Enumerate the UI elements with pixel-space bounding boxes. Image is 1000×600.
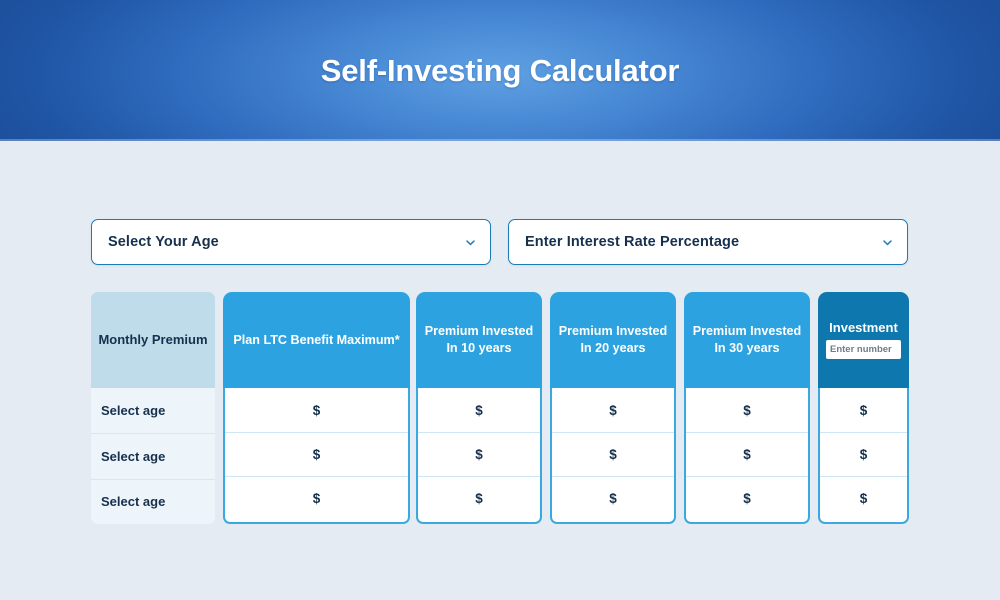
column-header-premium-invested-20-years: Premium Invested In 20 years [550,292,676,388]
column-header-premium-invested-10-years: Premium Invested In 10 years [416,292,542,388]
table-row[interactable]: Select age [91,479,215,524]
column-header-plan-ltc-benefit-maximum: Plan LTC Benefit Maximum* [223,292,410,388]
column-header-premium-invested-30-years: Premium Invested In 30 years [684,292,810,388]
table-cell: $ [418,476,540,520]
chevron-down-icon [882,237,893,248]
table-cell: $ [552,388,674,432]
table-column-premium-invested-10-years: Premium Invested In 10 years $ $ $ [416,292,542,524]
table-cell: $ [686,476,808,520]
investment-amount-input[interactable] [826,340,901,359]
table-cell: $ [820,476,907,520]
age-select[interactable]: Select Your Age [91,219,491,265]
investment-header-label: Investment [829,321,898,335]
table-row[interactable]: Select age [91,433,215,478]
table-column-plan-ltc-benefit-maximum: Plan LTC Benefit Maximum* $ $ $ [223,292,410,524]
table-cell: $ [820,388,907,432]
table-column-premium-invested-30-years: Premium Invested In 30 years $ $ $ [684,292,810,524]
table-cell: $ [418,432,540,476]
page-title: Self-Investing Calculator [0,0,1000,141]
table-row[interactable]: Select age [91,388,215,433]
table-column-investment: Investment $ $ $ [818,292,909,524]
banner-divider [0,139,1000,141]
column-header-line2: In 10 years [446,341,511,355]
column-header-line2: In 30 years [714,341,779,355]
column-header-line1: Premium Invested [425,324,534,338]
column-body-monthly-premium: Select age Select age Select age [91,388,215,524]
column-header-investment: Investment [818,292,909,388]
table-cell: $ [225,432,408,476]
column-body-premium-invested-20-years: $ $ $ [550,388,676,524]
column-header-monthly-premium: Monthly Premium [91,292,215,388]
page-header-banner: Self-Investing Calculator [0,0,1000,141]
selector-row: Select Your Age Enter Interest Rate Perc… [91,219,909,265]
table-cell: $ [418,388,540,432]
table-cell: $ [686,432,808,476]
table-cell: $ [820,432,907,476]
column-body-plan-ltc-benefit-maximum: $ $ $ [223,388,410,524]
age-select-label: Select Your Age [108,234,465,250]
table-column-monthly-premium: Monthly Premium Select age Select age Se… [91,292,215,524]
table-cell: $ [686,388,808,432]
table-column-premium-invested-20-years: Premium Invested In 20 years $ $ $ [550,292,676,524]
column-header-line1: Premium Invested [693,324,802,338]
column-header-line2: In 20 years [580,341,645,355]
results-table: Monthly Premium Select age Select age Se… [91,292,909,524]
interest-rate-select-label: Enter Interest Rate Percentage [525,234,882,250]
table-cell: $ [225,388,408,432]
interest-rate-select[interactable]: Enter Interest Rate Percentage [508,219,908,265]
table-cell: $ [225,476,408,520]
column-body-investment: $ $ $ [818,388,909,524]
table-cell: $ [552,476,674,520]
chevron-down-icon [465,237,476,248]
column-body-premium-invested-10-years: $ $ $ [416,388,542,524]
column-header-line1: Premium Invested [559,324,668,338]
column-body-premium-invested-30-years: $ $ $ [684,388,810,524]
table-cell: $ [552,432,674,476]
